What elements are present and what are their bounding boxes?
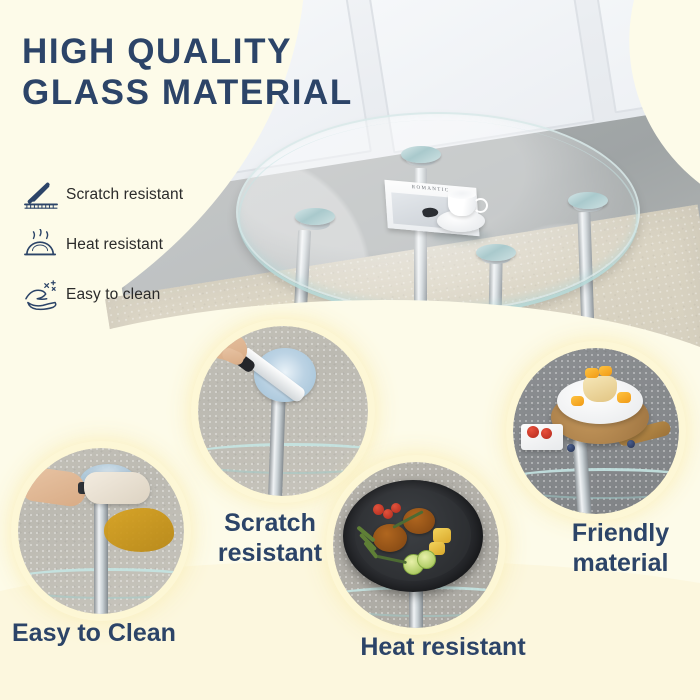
strawberry: [527, 426, 539, 438]
mango-topping: [617, 392, 631, 403]
caption-scratch-resistant: Scratch resistant: [195, 508, 345, 568]
headline-line-1: HIGH QUALITY: [22, 32, 452, 73]
leg-cap: [476, 244, 516, 261]
feature-label: Heat resistant: [66, 236, 163, 254]
thumbnail-easy-to-clean: [18, 448, 184, 614]
cup-handle: [473, 198, 488, 213]
feature-item-scratch-resistant: Scratch resistant: [22, 170, 252, 220]
feature-item-heat-resistant: Heat resistant: [22, 220, 252, 270]
hand-wipe-sparkle-icon: [22, 279, 60, 311]
mango-dessert: [583, 376, 617, 402]
feature-label: Scratch resistant: [66, 186, 183, 204]
thumbnail-friendly-material: [513, 348, 679, 514]
mango-topping: [599, 366, 612, 376]
thumbnail-heat-resistant: [333, 462, 499, 628]
leg-cap: [401, 146, 441, 163]
caption-friendly-material: Friendly material: [548, 518, 693, 578]
blueberry: [567, 444, 575, 452]
spill-stain: [104, 508, 174, 552]
burger-patty: [373, 524, 407, 552]
feature-item-easy-to-clean: Easy to clean: [22, 270, 252, 320]
lime-slice: [417, 550, 436, 569]
caption-line-1: Scratch: [195, 508, 345, 538]
feature-label: Easy to clean: [66, 286, 160, 304]
page-title: HIGH QUALITY GLASS MATERIAL: [22, 32, 452, 114]
cup-rim: [448, 190, 476, 199]
headline-line-2: GLASS MATERIAL: [22, 73, 452, 114]
heat-dome-icon: [22, 229, 60, 261]
caption-line-1: Friendly: [548, 518, 693, 548]
product-feature-graphic: ROMANTIC HIGH QUALITY GLASS MATERIAL: [0, 0, 700, 700]
feature-list: Scratch resistant Heat resistant: [22, 170, 252, 320]
mango-topping: [585, 368, 599, 378]
corn-piece: [433, 528, 451, 543]
strawberry: [541, 428, 552, 439]
leg-cap: [295, 208, 335, 225]
cleaning-towel: [84, 472, 150, 504]
caption-easy-to-clean: Easy to Clean: [12, 618, 252, 648]
caption-heat-resistant: Heat resistant: [318, 632, 568, 662]
caption-line-2: resistant: [195, 538, 345, 568]
cherry-tomato: [391, 503, 401, 513]
blueberry: [627, 440, 635, 448]
caption-line-2: material: [548, 548, 693, 578]
mango-topping: [571, 396, 584, 406]
leg-cap: [568, 192, 608, 209]
knife-scratch-icon: [22, 179, 60, 211]
